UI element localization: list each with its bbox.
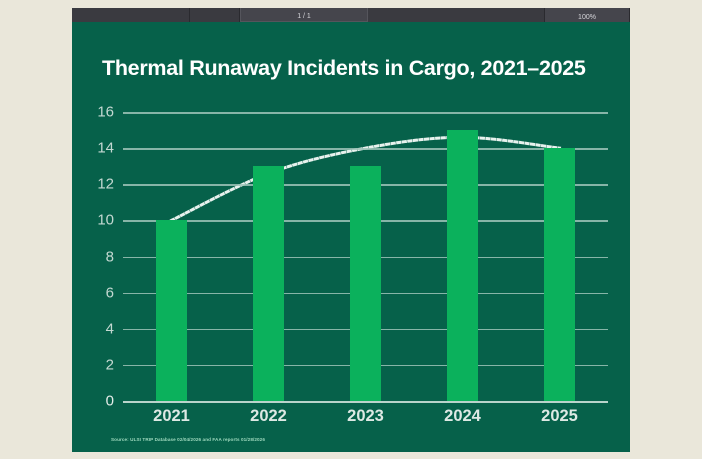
y-axis-tick-6: 6 bbox=[106, 284, 114, 301]
source-note: Source: ULSI TRIP Database 02/04/2026 an… bbox=[111, 437, 265, 442]
viewer-toolbar[interactable]: 1 / 1 100% bbox=[72, 8, 630, 22]
x-axis-tick-2025: 2025 bbox=[541, 407, 578, 426]
chart-card: Thermal Runaway Incidents in Cargo, 2021… bbox=[72, 22, 630, 452]
y-axis-tick-2: 2 bbox=[106, 356, 114, 373]
bar-2023 bbox=[350, 166, 381, 401]
zoom-level-indicator[interactable]: 100% bbox=[544, 8, 630, 22]
y-axis-tick-14: 14 bbox=[97, 140, 114, 157]
toolbar-nav-group[interactable] bbox=[190, 8, 240, 22]
page-indicator[interactable]: 1 / 1 bbox=[240, 8, 368, 22]
x-axis-tick-2024: 2024 bbox=[444, 407, 481, 426]
toolbar-left-group[interactable] bbox=[72, 8, 190, 22]
y-axis-tick-0: 0 bbox=[106, 393, 114, 410]
x-axis-tick-2021: 2021 bbox=[153, 407, 190, 426]
plot-area: 024681012141620212022202320242025 bbox=[123, 112, 608, 401]
gridline-0: 0 bbox=[123, 401, 608, 403]
gridline-14: 14 bbox=[123, 148, 608, 150]
y-axis-tick-12: 12 bbox=[97, 176, 114, 193]
y-axis-tick-16: 16 bbox=[97, 104, 114, 121]
toolbar-spacer bbox=[368, 8, 544, 22]
application-window: 1 / 1 100% Thermal Runaway Incidents in … bbox=[72, 8, 630, 452]
bar-2024 bbox=[447, 130, 478, 401]
y-axis-tick-4: 4 bbox=[106, 320, 114, 337]
y-axis-tick-10: 10 bbox=[97, 212, 114, 229]
chart-title: Thermal Runaway Incidents in Cargo, 2021… bbox=[102, 56, 586, 81]
x-axis-tick-2022: 2022 bbox=[250, 407, 287, 426]
bar-2021 bbox=[156, 220, 187, 401]
gridline-16: 16 bbox=[123, 112, 608, 114]
y-axis-tick-8: 8 bbox=[106, 248, 114, 265]
x-axis-tick-2023: 2023 bbox=[347, 407, 384, 426]
bar-2025 bbox=[544, 148, 575, 401]
bar-2022 bbox=[253, 166, 284, 401]
